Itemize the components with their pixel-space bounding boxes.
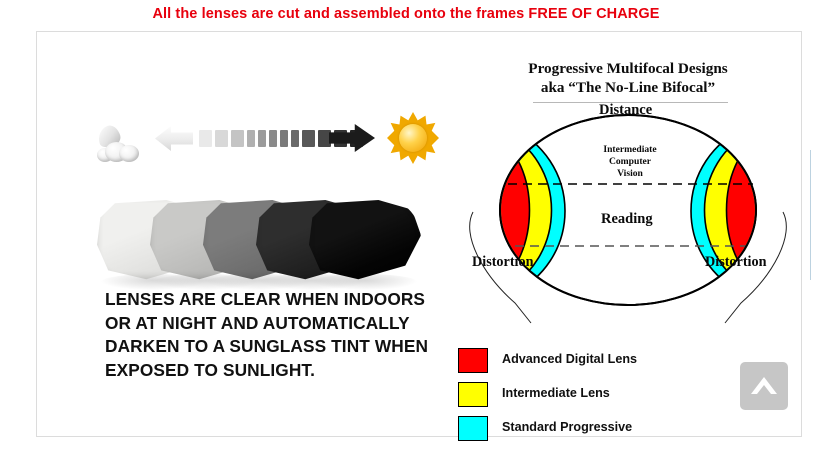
legend-item: Advanced Digital Lens [458,348,718,375]
legend-item: Standard Progressive [458,416,718,443]
gradient-segment [231,130,244,147]
caption-line-2: OR AT NIGHT AND AUTOMATICALLY [105,312,445,336]
arrow-right-icon [329,124,375,152]
sun-disc-shape [399,124,427,152]
label-distortion-left: Distortion [472,254,533,271]
arrow-left-icon [155,126,193,151]
gradient-segment [199,130,212,147]
light-transition-strip [95,110,440,165]
gradient-segment [247,130,255,147]
lens-type-legend: Advanced Digital LensIntermediate LensSt… [458,348,718,450]
chevron-up-icon [750,375,778,397]
label-intermediate-computer-vision: Intermediate Computer Vision [584,144,676,181]
label-distortion-right: Distortion [705,254,766,271]
page-edge-accent-line [810,150,811,280]
sun-icon [387,112,439,164]
scroll-to-top-button[interactable] [740,362,788,410]
lens-tint-sample [309,200,421,280]
gradient-segment [291,130,299,147]
legend-item-label: Advanced Digital Lens [502,352,637,366]
legend-item-label: Intermediate Lens [502,386,610,400]
photochromic-caption: LENSES ARE CLEAR WHEN INDOORS OR AT NIGH… [105,288,445,382]
caption-line-1: LENSES ARE CLEAR WHEN INDOORS [105,288,445,312]
cloud-icon [95,124,147,164]
photochromic-lens-panel: LENSES ARE CLEAR WHEN INDOORS OR AT NIGH… [37,32,447,436]
caption-line-3: DARKEN TO A SUNGLASS TINT WHEN [105,335,445,359]
label-intermediate-line-1: Intermediate [584,144,676,156]
gradient-segment [302,130,315,147]
gradient-segment [269,130,277,147]
legend-color-swatch [458,382,488,407]
legend-color-swatch [458,348,488,373]
diagram-title-line-2: aka “The No-Line Bifocal” [453,78,803,97]
label-intermediate-line-2: Computer [584,156,676,168]
legend-item: Intermediate Lens [458,382,718,409]
page-headline: All the lenses are cut and assembled ont… [0,6,812,22]
caption-line-4: EXPOSED TO SUNLIGHT. [105,359,445,383]
light-intensity-arrow-bar [155,121,375,155]
legend-item-label: Standard Progressive [502,420,632,434]
gradient-segment [258,130,266,147]
label-intermediate-line-3: Vision [584,168,676,180]
gradient-segment [215,130,228,147]
legend-color-swatch [458,416,488,441]
diagram-title-line-1: Progressive Multifocal Designs [453,59,803,78]
label-distance: Distance [599,102,652,119]
cloud-puff-medium [119,145,139,162]
diagram-title: Progressive Multifocal Designs aka “The … [453,59,803,97]
label-reading: Reading [601,211,653,228]
gradient-segment [280,130,288,147]
lens-tint-progression [97,200,437,295]
